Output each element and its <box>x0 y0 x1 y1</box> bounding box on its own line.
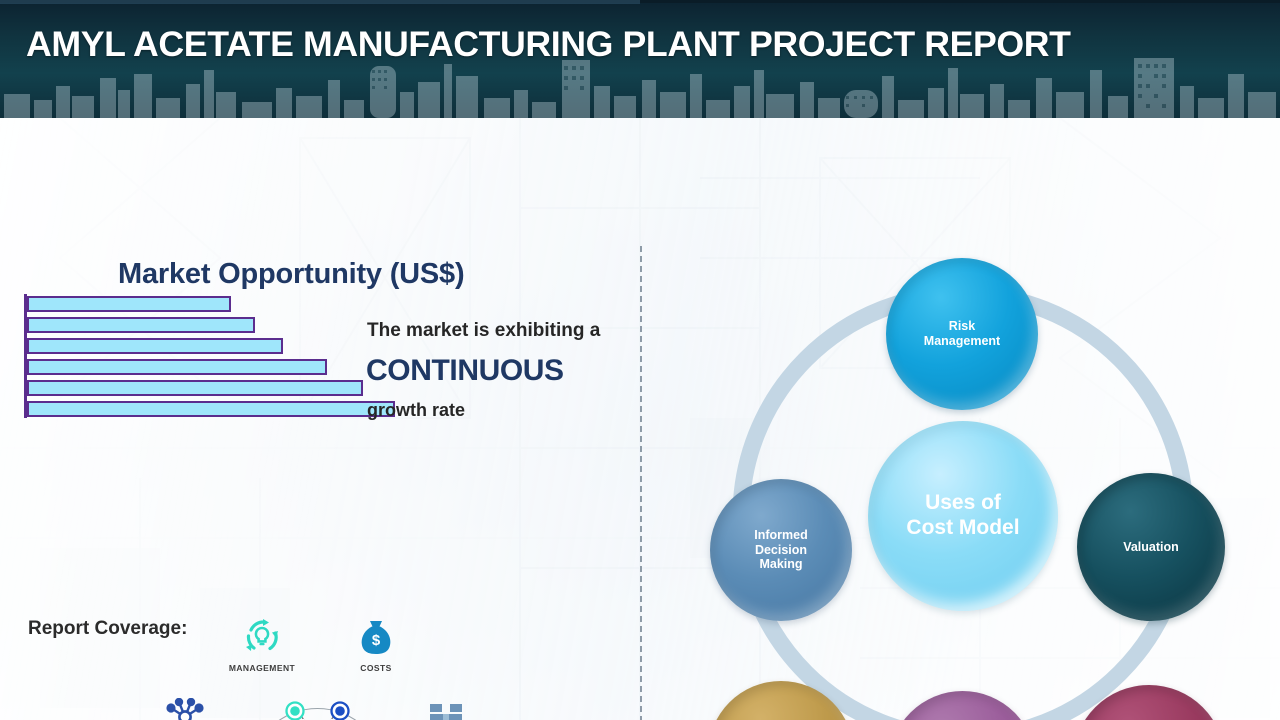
market-note-emphasis: CONTINUOUS <box>366 354 564 388</box>
bar-6 <box>27 401 395 417</box>
slide-canvas: AMYL ACETATE MANUFACTURING PLANT PROJECT… <box>0 0 1280 720</box>
node-informed-line3: Making <box>754 557 807 572</box>
market-note-line1: The market is exhibiting a <box>367 320 600 342</box>
coverage-item-management: MANAGEMENT <box>214 614 310 673</box>
node-risk-management[interactable]: Risk Management <box>886 258 1038 410</box>
node-informed-line2: Decision <box>754 543 807 558</box>
market-opportunity-bar-chart <box>24 294 424 418</box>
report-coverage-label: Report Coverage: <box>28 618 187 640</box>
node-valuation-line1: Valuation <box>1123 540 1179 555</box>
business-model-wheel <box>240 679 395 720</box>
slide-header: AMYL ACETATE MANUFACTURING PLANT PROJECT… <box>0 0 1280 118</box>
page-title: AMYL ACETATE MANUFACTURING PLANT PROJECT… <box>26 24 1071 66</box>
header-top-band <box>0 0 640 4</box>
coverage-label-costs: COSTS <box>328 663 424 673</box>
coverage-label-management: MANAGEMENT <box>214 663 310 673</box>
bar-2 <box>27 317 255 333</box>
left-panel: Market Opportunity (US$) The market is e… <box>0 236 640 720</box>
right-panel: Risk Management Valuation Mergers and Ac… <box>640 236 1280 720</box>
slide-body: Market Opportunity (US$) The market is e… <box>0 118 1280 720</box>
bar-1 <box>27 296 231 312</box>
market-opportunity-title: Market Opportunity (US$) <box>118 258 464 291</box>
center-line2: Cost Model <box>906 516 1019 541</box>
coverage-item-distribution: DISTRIBUTION <box>137 694 233 720</box>
node-informed-decision-making[interactable]: Informed Decision Making <box>710 479 852 621</box>
center-line1: Uses of <box>906 491 1019 516</box>
node-valuation[interactable]: Valuation <box>1077 473 1225 621</box>
node-risk-management-line2: Management <box>924 334 1000 349</box>
network-nodes-icon <box>137 694 233 720</box>
coverage-item-products: PRODUCTS <box>398 694 494 720</box>
recycle-lightbulb-icon <box>214 614 310 660</box>
market-note-line2: growth rate <box>367 400 465 421</box>
open-box-icon <box>398 694 494 720</box>
bar-3 <box>27 338 283 354</box>
bar-5 <box>27 380 363 396</box>
node-uses-of-cost-model: Uses of Cost Model <box>868 421 1058 611</box>
node-risk-management-line1: Risk <box>924 319 1000 334</box>
node-informed-line1: Informed <box>754 528 807 543</box>
chart-y-axis <box>24 294 27 418</box>
svg-text:$: $ <box>372 632 381 649</box>
money-bag-icon: $ <box>328 614 424 660</box>
bar-4 <box>27 359 327 375</box>
coverage-item-costs: $ COSTS <box>328 614 424 673</box>
